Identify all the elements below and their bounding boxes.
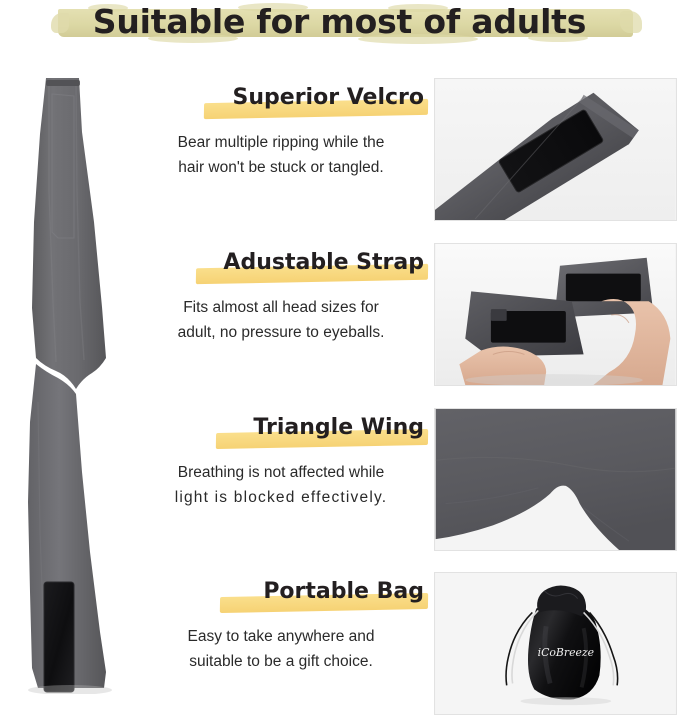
feature-description-line-1: Easy to take anywhere and <box>132 624 430 649</box>
feature-text-block: Triangle Wing Breathing is not affected … <box>132 408 430 560</box>
feature-description-line-2: hair won't be stuck or tangled. <box>132 155 430 180</box>
feature-description: Bear multiple ripping while the hair won… <box>132 130 430 180</box>
feature-description-line-1: Bear multiple ripping while the <box>132 130 430 155</box>
feature-heading: Adustable Strap <box>223 250 424 275</box>
bag-logo-text: iCoBreeze <box>538 646 594 659</box>
feature-text-block: Adustable Strap Fits almost all head siz… <box>132 243 430 395</box>
feature-description: Breathing is not affected while light is… <box>132 460 430 510</box>
feature-row-adjustable-strap: Adustable Strap Fits almost all head siz… <box>132 243 679 395</box>
feature-heading-wrap: Portable Bag <box>132 572 430 616</box>
feature-heading-wrap: Adustable Strap <box>132 243 430 287</box>
feature-description: Fits almost all head sizes for adult, no… <box>132 295 430 345</box>
feature-row-triangle-wing: Triangle Wing Breathing is not affected … <box>132 408 679 560</box>
feature-heading: Portable Bag <box>263 579 424 604</box>
page-title-banner: Suitable for most of adults <box>0 0 679 46</box>
feature-row-portable-bag: Portable Bag Easy to take anywhere and s… <box>132 572 679 724</box>
feature-description: Easy to take anywhere and suitable to be… <box>132 624 430 674</box>
feature-heading: Superior Velcro <box>233 85 424 110</box>
sleep-mask-full-view <box>8 72 130 694</box>
triangle-wing-photo <box>434 408 677 551</box>
feature-text-block: Superior Velcro Bear multiple ripping wh… <box>132 78 430 230</box>
feature-description-line-1: Fits almost all head sizes for <box>132 295 430 320</box>
velcro-closeup-photo <box>434 78 677 221</box>
feature-text-block: Portable Bag Easy to take anywhere and s… <box>132 572 430 724</box>
feature-row-superior-velcro: Superior Velcro Bear multiple ripping wh… <box>132 78 679 230</box>
feature-description-line-2: suitable to be a gift choice. <box>132 649 430 674</box>
feature-heading: Triangle Wing <box>253 415 424 440</box>
feature-heading-wrap: Superior Velcro <box>132 78 430 122</box>
portable-bag-photo: iCoBreeze <box>434 572 677 715</box>
adjustable-strap-photo <box>434 243 677 386</box>
feature-description-line-1: Breathing is not affected while <box>132 460 430 485</box>
feature-heading-wrap: Triangle Wing <box>132 408 430 452</box>
feature-description-line-2: light is blocked effectively. <box>132 485 430 510</box>
feature-description-line-2: adult, no pressure to eyeballs. <box>132 320 430 345</box>
page-title: Suitable for most of adults <box>0 0 679 44</box>
